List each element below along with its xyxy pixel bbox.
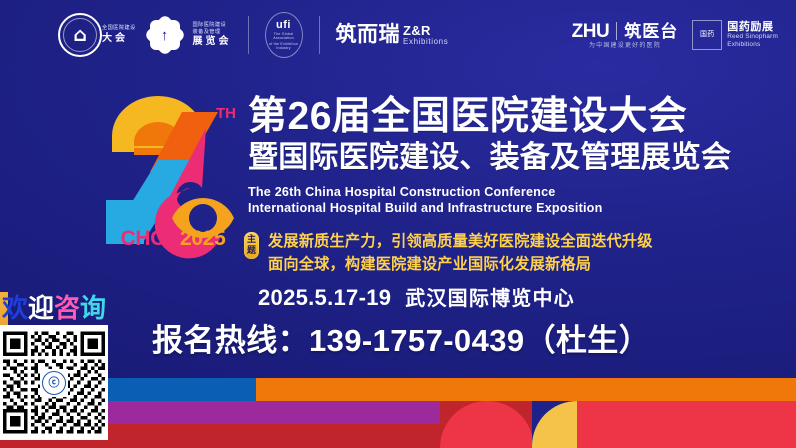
reed-english-line1: Reed Sinopharm [727, 34, 778, 40]
zhu-chinese-name: 筑医台 [624, 23, 678, 40]
reed-english-line2: Exhibitions [727, 42, 778, 48]
title-block: 第26届全国医院建设大会 暨国际医院建设、装备及管理展览会 The 26th C… [248, 96, 708, 216]
national-seal-text: 全国医院建设 大会 [102, 26, 136, 43]
event-date-venue: 2025.5.17-19 武汉国际博览中心 [258, 287, 575, 309]
expo-arrow-icon: ↑ [161, 28, 169, 43]
registration-hotline: 报名热线：139-1757-0439（杜生） [152, 322, 772, 361]
band-crimson [575, 401, 796, 448]
logo-group-right: ZHU 筑医台 为中国建设更好的医院 国药 国药励展 Reed Sinophar… [572, 12, 778, 58]
ufi-logo: ufi The Global Association of the Exhibi… [265, 12, 303, 58]
ufi-tagline-line2: of the Exhibition Industry [266, 42, 302, 50]
event-date: 2025.5.17-19 [258, 287, 391, 309]
zr-chinese-name: 筑而瑞 [336, 24, 401, 46]
qr-center-glyph: ⓒ [42, 371, 66, 395]
chcc-wordmark: CHCC2025 [100, 228, 246, 249]
chcc-year: 2025 [180, 227, 226, 250]
qr-heading-char-1: 欢 [2, 292, 28, 324]
logo-divider-2 [319, 16, 320, 54]
band-orange [256, 378, 796, 401]
zhu-tagline: 为中国建设更好的医院 [589, 43, 661, 49]
qr-heading-char-4: 询 [80, 292, 106, 324]
national-seal-title: 大会 [102, 34, 136, 44]
main-title-chinese: 第26届全国医院建设大会 [248, 96, 708, 138]
logo-zr-exhibitions: 筑而瑞 Z&R Exhibitions [336, 24, 449, 47]
expo-mark-text: 国际医院建设 装备及管理 展览会 [193, 23, 232, 47]
logo-expo-mark: ↑ 国际医院建设 装备及管理 展览会 [143, 13, 232, 57]
snowflake-icon: ↑ [143, 13, 187, 57]
qr-heading: 欢迎咨询 [2, 292, 114, 324]
national-seal-icon: ⌂ [58, 13, 102, 57]
expo-title: 展览会 [193, 37, 232, 47]
zhuyitai-row: ZHU 筑医台 [572, 22, 679, 41]
expo-subtitle-line2: 装备及管理 [193, 30, 232, 35]
zr-english-block: Z&R Exhibitions [403, 24, 448, 47]
main-title-english: The 26th China Hospital Construction Con… [248, 184, 708, 200]
theme-lines: 发展新质生产力，引领高质量美好医院建设全面迭代升级 面向全球，构建医院建设产业国… [268, 230, 653, 276]
event-venue: 武汉国际博览中心 [405, 289, 575, 309]
qr-center-logo: ⓒ [40, 369, 68, 397]
qr-code-image[interactable]: ⓒ [0, 325, 108, 440]
national-seal-subtitle: 全国医院建设 [102, 26, 136, 31]
reed-chinese-name: 国药励展 [727, 22, 778, 33]
zhu-wordmark: ZHU [572, 22, 610, 41]
expo-subtitle-line1: 国际医院建设 [193, 23, 232, 28]
partner-logo-strip: ⌂ 全国医院建设 大会 ↑ 国际医院建设 装备及管理 展览会 [0, 0, 796, 70]
reed-text-block: 国药励展 Reed Sinopharm Exhibitions [727, 22, 778, 48]
subtitle-english: International Hospital Build and Infrast… [248, 200, 708, 216]
ufi-tagline-line1: The Global Association [266, 32, 302, 40]
reed-seal-icon: 国药 [692, 20, 722, 50]
svg-text:TH: TH [216, 105, 236, 122]
zr-abbrev: Z&R [403, 24, 448, 37]
logo-divider-1 [248, 16, 249, 54]
poster-canvas: ⌂ 全国医院建设 大会 ↑ 国际医院建设 装备及管理 展览会 [0, 0, 796, 448]
english-title-block: The 26th China Hospital Construction Con… [248, 184, 708, 216]
bottom-color-bands [0, 378, 796, 448]
theme-line-1: 发展新质生产力，引领高质量美好医院建设全面迭代升级 [268, 230, 653, 253]
theme-badge: 主 题 [244, 232, 259, 259]
ufi-acronym: ufi [276, 20, 291, 31]
seal-building-icon: ⌂ [73, 26, 87, 45]
theme-badge-char-2: 题 [247, 246, 256, 255]
logo-national-conference: ⌂ 全国医院建设 大会 [58, 13, 136, 57]
chcc-letters: CHCC [121, 227, 180, 250]
theme-line-2: 面向全球，构建医院建设产业国际化发展新格局 [268, 253, 653, 276]
theme-badge-char-1: 主 [247, 235, 256, 244]
qr-panel: 欢迎咨询 [0, 292, 112, 448]
zr-subtitle: Exhibitions [403, 38, 448, 46]
logo-reed-sinopharm: 国药 国药励展 Reed Sinopharm Exhibitions [692, 20, 778, 50]
qr-heading-char-3: 咨 [54, 292, 80, 324]
zhu-divider [616, 22, 617, 40]
qr-heading-char-2: 迎 [28, 292, 54, 324]
subtitle-chinese: 暨国际医院建设、装备及管理展览会 [248, 140, 708, 177]
logo-zhuyitai: ZHU 筑医台 为中国建设更好的医院 [572, 22, 679, 49]
logo-group-left: ⌂ 全国医院建设 大会 ↑ 国际医院建设 装备及管理 展览会 [58, 10, 448, 60]
theme-block: 主 题 发展新质生产力，引领高质量美好医院建设全面迭代升级 面向全球，构建医院建… [244, 230, 653, 276]
